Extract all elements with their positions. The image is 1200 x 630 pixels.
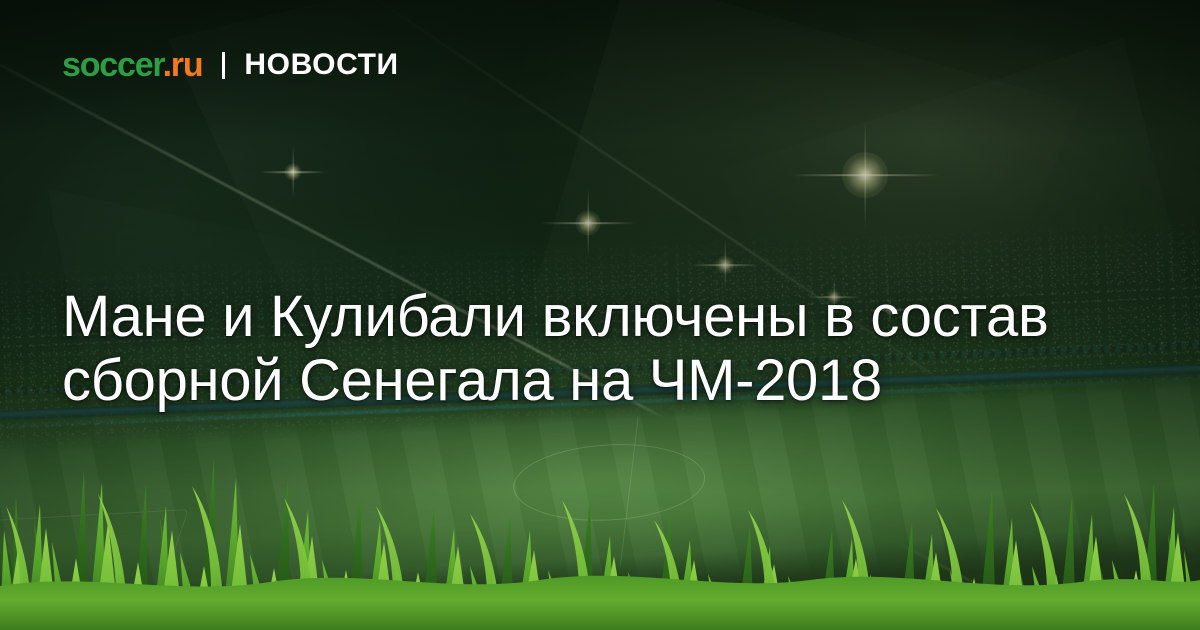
grass-svg xyxy=(0,410,1200,630)
lens-flare-icon xyxy=(258,137,328,207)
header-divider xyxy=(222,52,225,79)
brand-header: soccer.ru НОВОСТИ xyxy=(62,48,399,82)
logo-brand-text: soccer xyxy=(62,46,163,84)
logo-tld-text: .ru xyxy=(163,46,203,84)
section-label: НОВОСТИ xyxy=(244,50,398,80)
site-logo[interactable]: soccer.ru xyxy=(62,48,202,82)
page-title: Мане и Кулибали включены в состав сборно… xyxy=(62,285,1152,413)
news-share-card: soccer.ru НОВОСТИ Мане и Кулибали включе… xyxy=(0,0,1200,630)
foreground-grass xyxy=(0,410,1200,630)
